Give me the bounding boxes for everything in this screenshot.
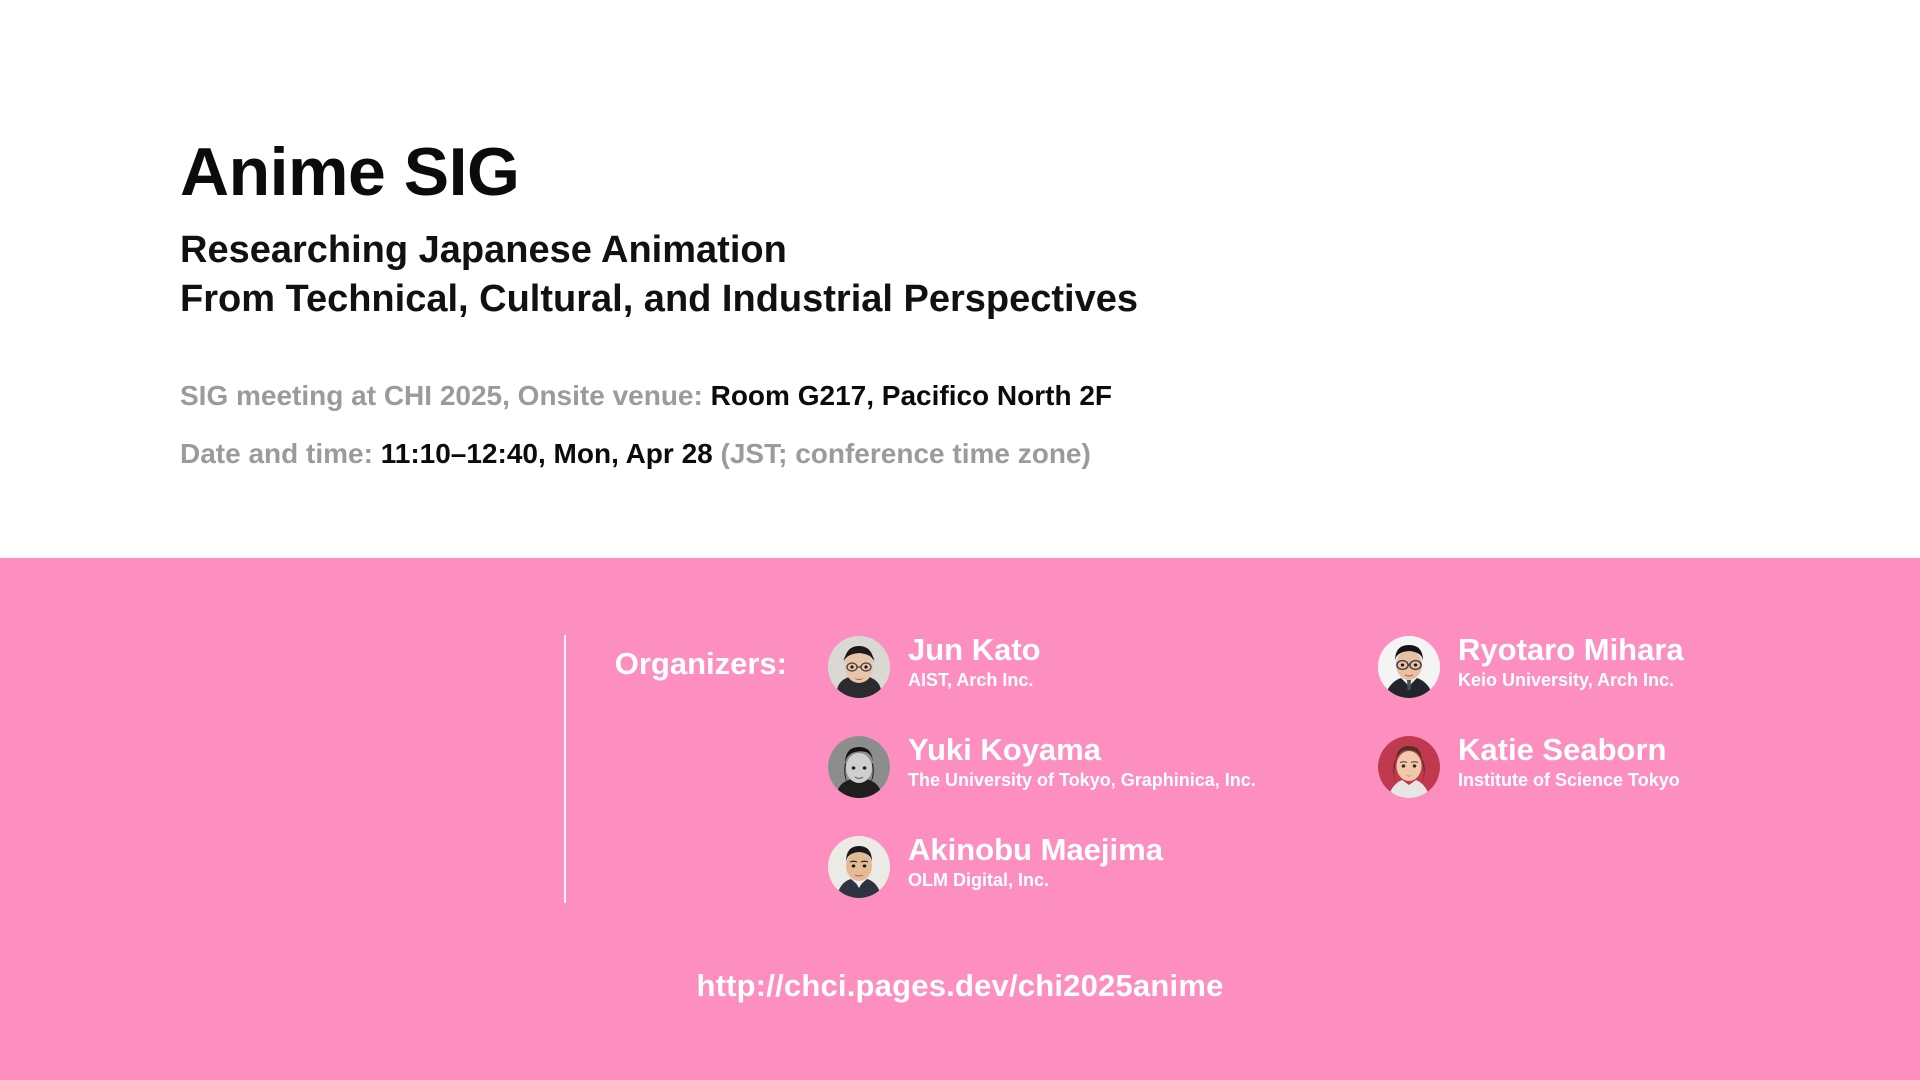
- organizer-name: Ryotaro Mihara: [1458, 632, 1684, 668]
- page-subtitle: Researching Japanese Animation From Tech…: [180, 226, 1680, 325]
- datetime-value: 11:10–12:40, Mon, Apr 28: [381, 438, 713, 469]
- venue-label: SIG meeting at CHI 2025, Onsite venue:: [180, 380, 703, 411]
- organizer-name: Akinobu Maejima: [908, 832, 1163, 868]
- subtitle-line-1: Researching Japanese Animation: [180, 229, 787, 271]
- vertical-divider: [564, 635, 566, 903]
- list-item: Ryotaro Mihara Keio University, Arch Inc…: [1378, 632, 1878, 732]
- avatar-jun-kato: [828, 636, 890, 698]
- organizer-affiliation: The University of Tokyo, Graphinica, Inc…: [908, 770, 1256, 791]
- datetime-line: Date and time: 11:10–12:40, Mon, Apr 28 …: [180, 440, 1680, 468]
- organizer-name: Yuki Koyama: [908, 732, 1256, 768]
- organizer-affiliation: Institute of Science Tokyo: [1458, 770, 1680, 791]
- organizer-affiliation: OLM Digital, Inc.: [908, 870, 1163, 891]
- organizer-name: Katie Seaborn: [1458, 732, 1680, 768]
- title-block: Anime SIG Researching Japanese Animation…: [180, 138, 1680, 325]
- datetime-label: Date and time:: [180, 438, 373, 469]
- organizer-name: Jun Kato: [908, 632, 1041, 668]
- person-text: Jun Kato AIST, Arch Inc.: [908, 632, 1041, 690]
- organizers-section: Organizers:: [0, 558, 1920, 1080]
- poster-slide: Anime SIG Researching Japanese Animation…: [0, 0, 1920, 1080]
- venue-value: Room G217, Pacifico North 2F: [711, 380, 1112, 411]
- page-title: Anime SIG: [180, 138, 1680, 206]
- organizers-column-left: Jun Kato AIST, Arch Inc.: [828, 632, 1348, 932]
- avatar-akinobu-maejima: [828, 836, 890, 898]
- site-url-link[interactable]: http://chci.pages.dev/chi2025anime: [0, 968, 1920, 1004]
- avatar-yuki-koyama: [828, 736, 890, 798]
- organizer-affiliation: Keio University, Arch Inc.: [1458, 670, 1684, 691]
- header-section: Anime SIG Researching Japanese Animation…: [0, 0, 1920, 558]
- venue-line: SIG meeting at CHI 2025, Onsite venue: R…: [180, 382, 1680, 410]
- person-text: Katie Seaborn Institute of Science Tokyo: [1458, 732, 1680, 790]
- organizers-label: Organizers:: [597, 646, 787, 682]
- subtitle-line-2: From Technical, Cultural, and Industrial…: [180, 275, 1680, 324]
- list-item: Akinobu Maejima OLM Digital, Inc.: [828, 832, 1348, 932]
- meta-block: SIG meeting at CHI 2025, Onsite venue: R…: [180, 382, 1680, 468]
- person-text: Akinobu Maejima OLM Digital, Inc.: [908, 832, 1163, 890]
- avatar-ryotaro-mihara: [1378, 636, 1440, 698]
- list-item: Jun Kato AIST, Arch Inc.: [828, 632, 1348, 732]
- person-text: Ryotaro Mihara Keio University, Arch Inc…: [1458, 632, 1684, 690]
- organizer-affiliation: AIST, Arch Inc.: [908, 670, 1041, 691]
- avatar-katie-seaborn: [1378, 736, 1440, 798]
- person-text: Yuki Koyama The University of Tokyo, Gra…: [908, 732, 1256, 790]
- list-item: Yuki Koyama The University of Tokyo, Gra…: [828, 732, 1348, 832]
- list-item: Katie Seaborn Institute of Science Tokyo: [1378, 732, 1878, 832]
- organizers-column-right: Ryotaro Mihara Keio University, Arch Inc…: [1378, 632, 1878, 832]
- datetime-note: (JST; conference time zone): [721, 438, 1091, 469]
- organizers-area: Organizers:: [0, 558, 1920, 962]
